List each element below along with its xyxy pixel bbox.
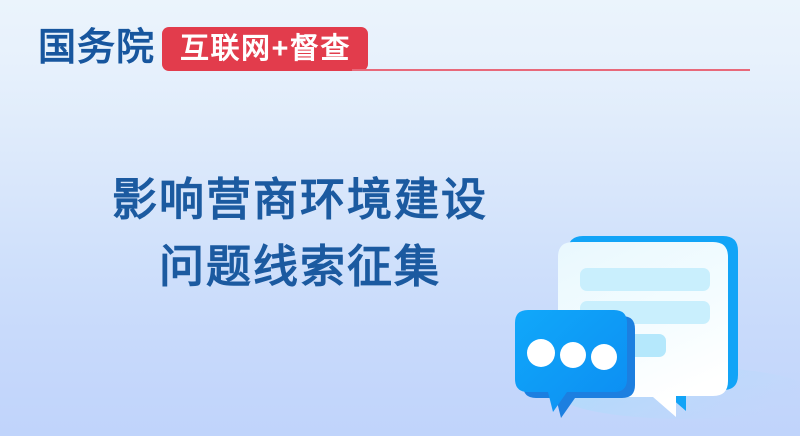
gov-council-logo: 国务院: [38, 26, 155, 70]
badge-label: 互联网+督查: [180, 34, 351, 64]
speech-bubbles-svg: [470, 205, 800, 436]
header-divider-rule: [352, 69, 750, 71]
speech-bubbles-illustration: [470, 205, 800, 436]
internet-plus-supervision-badge: 互联网+督查: [162, 27, 368, 71]
promo-banner: 国务院 互联网+督查 影响营商环境建设 问题线索征集: [0, 0, 800, 436]
dot-2: [560, 342, 586, 368]
bubble-line-1: [580, 268, 710, 291]
dot-1: [527, 339, 555, 367]
banner-header: 国务院 互联网+督查: [0, 0, 800, 100]
dot-3: [591, 344, 617, 370]
